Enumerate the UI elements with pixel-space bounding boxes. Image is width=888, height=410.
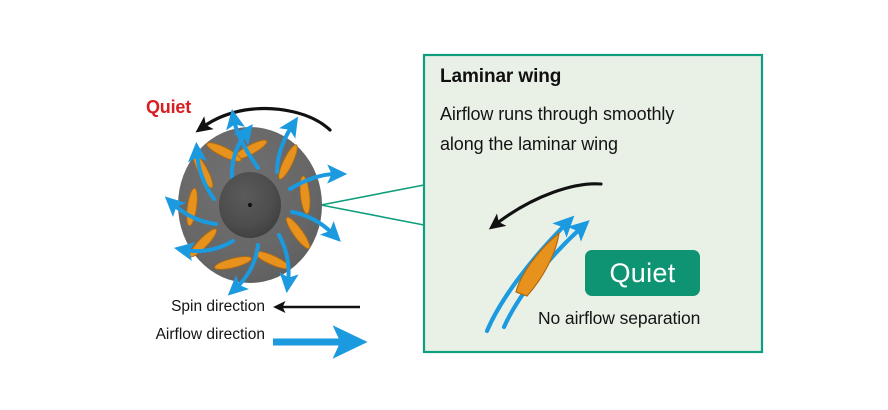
quiet-badge-label: Quiet — [609, 260, 675, 287]
quiet-badge: Quiet — [585, 250, 700, 296]
fan-spin-arrow — [203, 109, 330, 130]
callout-description-line-1: Airflow runs through smoothly — [440, 104, 674, 125]
diagram-vector-layer — [0, 0, 888, 410]
legend-item-spin-direction: Spin direction — [125, 298, 265, 316]
diagram-canvas: Quiet Spin direction Airflow direction L… — [0, 0, 888, 410]
fan-assembly — [173, 109, 336, 288]
callout-wedge-fill — [321, 185, 424, 225]
fan-quiet-label: Quiet — [146, 97, 191, 118]
legend-arrows — [273, 307, 360, 342]
callout-caption: No airflow separation — [538, 308, 700, 329]
fan-hub-center-dot — [248, 203, 252, 207]
callout-description-line-2: along the laminar wing — [440, 134, 618, 155]
callout-title: Laminar wing — [440, 66, 561, 88]
legend-item-airflow-direction: Airflow direction — [125, 326, 265, 344]
